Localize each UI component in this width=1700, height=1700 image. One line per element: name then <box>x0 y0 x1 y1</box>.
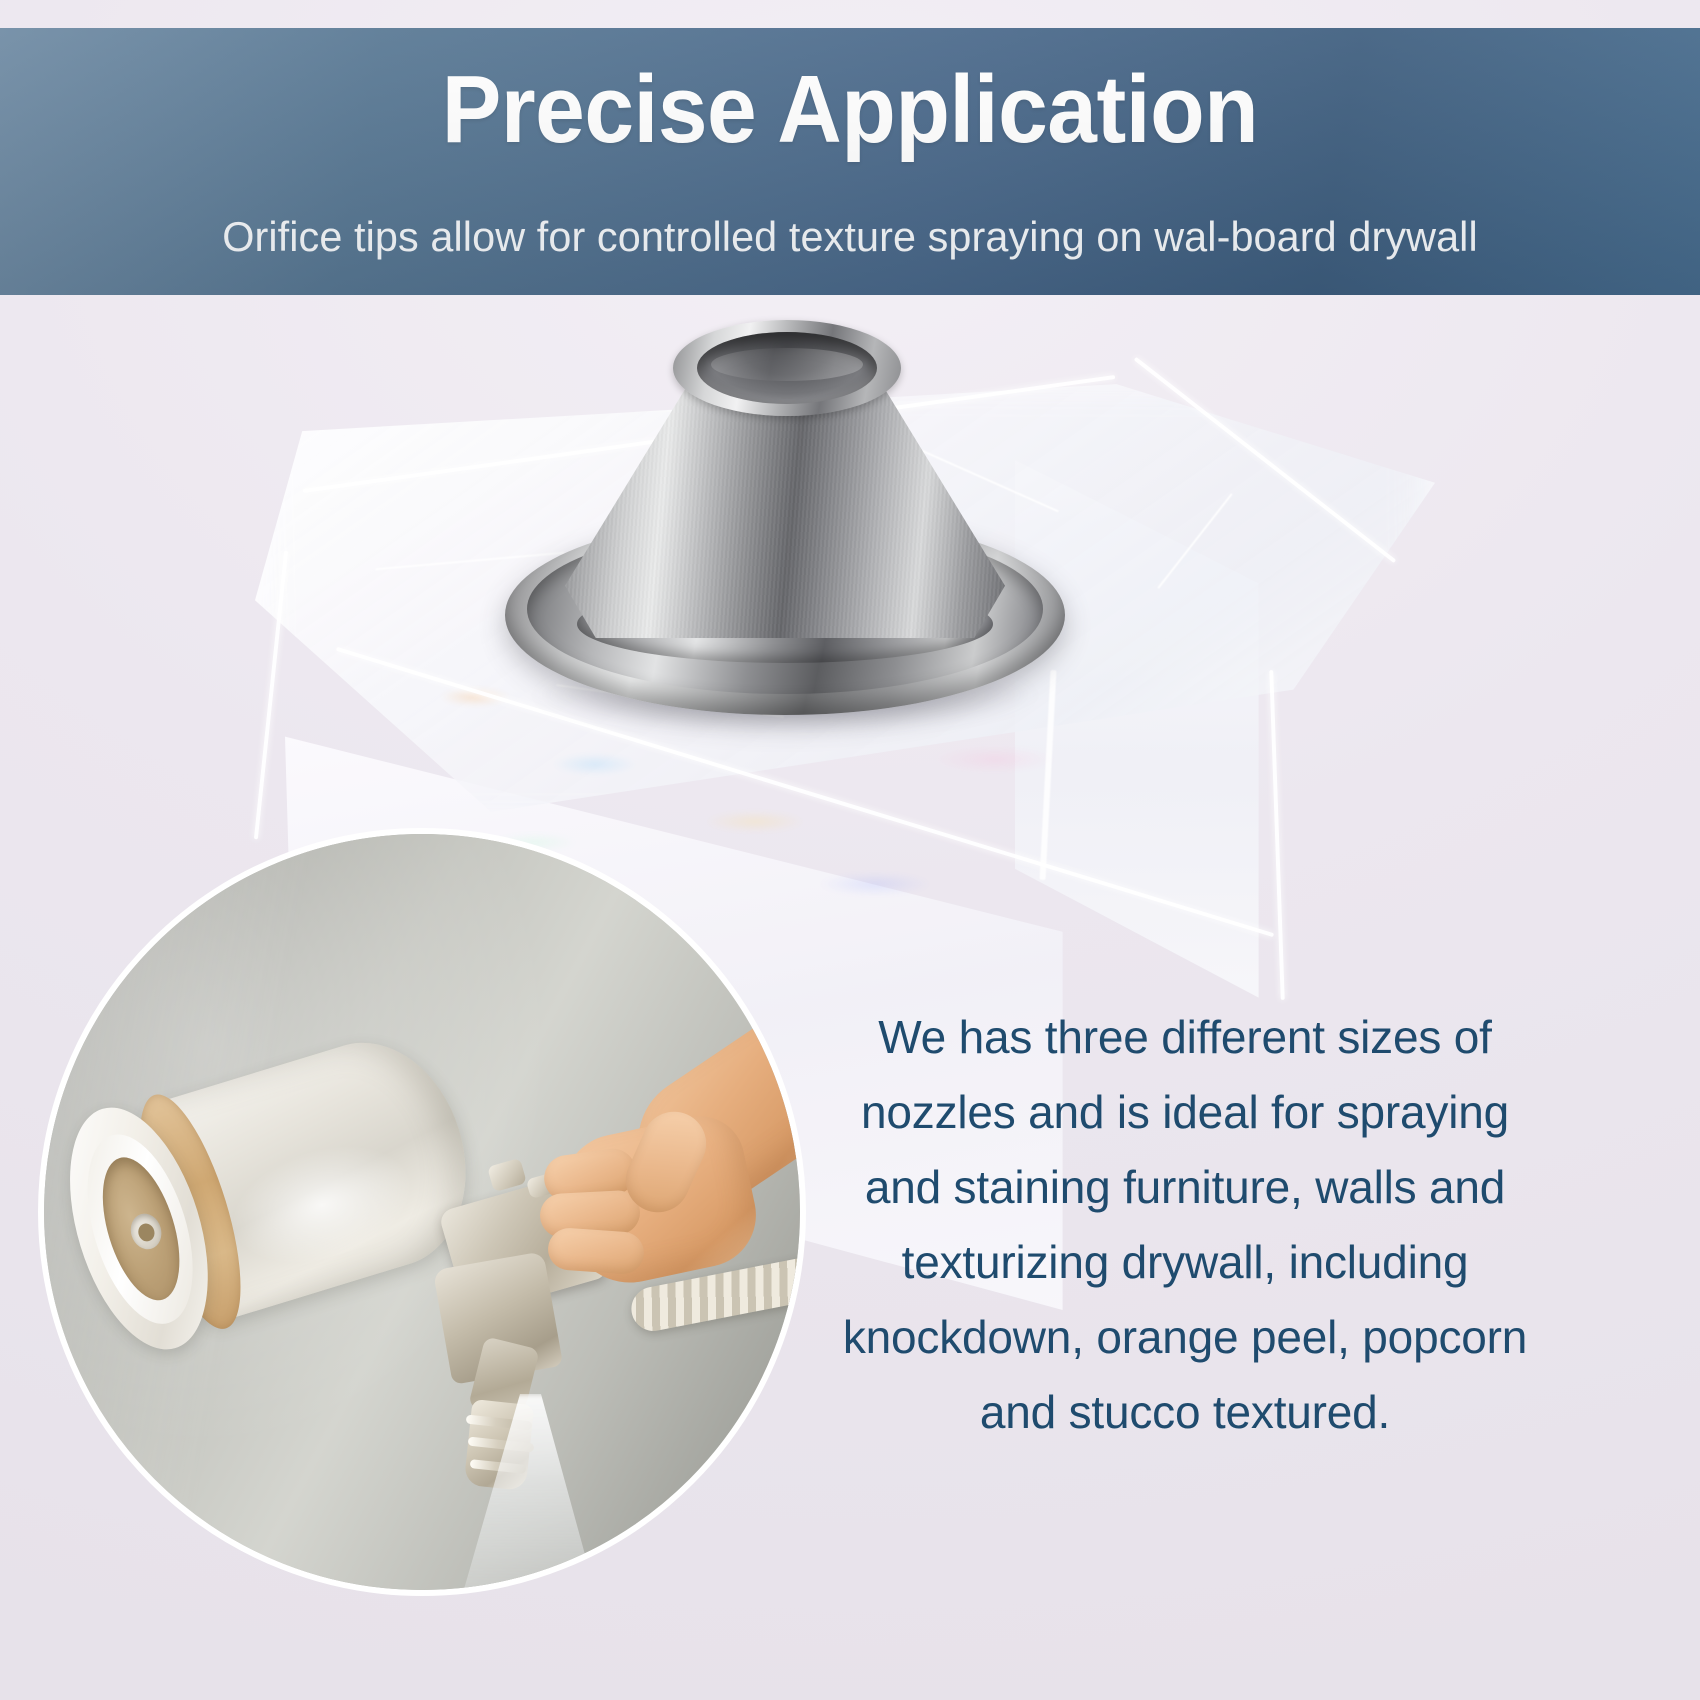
description-line: and stucco textured. <box>820 1375 1550 1450</box>
page-title: Precise Application <box>60 60 1641 161</box>
description-line: knockdown, orange peel, popcorn <box>820 1300 1550 1375</box>
description-text-block: We has three different sizes of nozzles … <box>820 1000 1550 1450</box>
description-line: texturizing drywall, including <box>820 1225 1550 1300</box>
page-subtitle: Orifice tips allow for controlled textur… <box>13 213 1688 261</box>
nozzle-orifice-bore <box>697 332 877 404</box>
acrylic-edge <box>1269 670 1285 1000</box>
spray-gun-inset-photo <box>38 828 806 1596</box>
description-line: and staining furniture, walls and <box>820 1150 1550 1225</box>
description-line: nozzles and is ideal for spraying <box>820 1075 1550 1150</box>
finger <box>547 1227 646 1276</box>
operator-hand <box>514 1066 806 1346</box>
product-infographic: Precise Application Orifice tips allow f… <box>0 0 1700 1700</box>
header-banner: Precise Application Orifice tips allow f… <box>0 28 1700 295</box>
description-line: We has three different sizes of <box>820 1000 1550 1075</box>
nozzle-tip-product <box>505 300 1065 720</box>
